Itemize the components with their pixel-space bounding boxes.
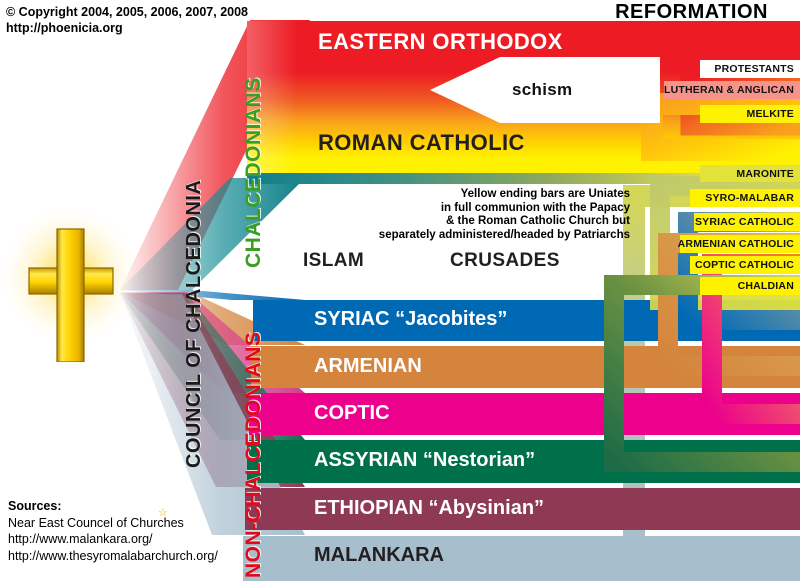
cross-icon bbox=[0, 196, 156, 362]
label-syriac: SYRIAC “Jacobites” bbox=[314, 308, 507, 331]
heading-crusades: CRUSADES bbox=[450, 250, 560, 272]
sources-heading: Sources: bbox=[8, 498, 218, 515]
endbar-melkite-label: MELKITE bbox=[747, 108, 794, 120]
copyright-line-2: http://phoenicia.org bbox=[6, 20, 248, 36]
label-armenian: ARMENIAN bbox=[314, 355, 422, 378]
endbar-chaldian: CHALDIAN bbox=[700, 277, 800, 295]
page-title-reformation: REFORMATION bbox=[615, 1, 768, 24]
label-assyrian: ASSYRIAN “Nestorian” bbox=[314, 449, 535, 472]
uniate-note-line4: separately administered/headed by Patria… bbox=[330, 229, 630, 243]
endbar-coptic-catholic: COPTIC CATHOLIC bbox=[690, 256, 800, 274]
endbar-lutheran-anglican: LUTHERAN & ANGLICAN bbox=[664, 81, 800, 99]
label-roman-catholic: ROMAN CATHOLIC bbox=[318, 130, 525, 156]
endbar-chaldian-label: CHALDIAN bbox=[738, 280, 794, 292]
uniate-note: Yellow ending bars are Uniates in full c… bbox=[330, 188, 630, 242]
label-coptic: COPTIC bbox=[314, 402, 390, 425]
copyright-line-1: © Copyright 2004, 2005, 2006, 2007, 2008 bbox=[6, 4, 248, 20]
endbar-maronite: MARONITE bbox=[700, 165, 800, 182]
label-ethiopian: ETHIOPIAN “Abysinian” bbox=[314, 497, 544, 520]
uniate-note-line3: & the Roman Catholic Church but bbox=[330, 215, 630, 229]
uniate-note-line2: in full communion with the Papacy bbox=[330, 202, 630, 216]
group-label-chalcedonians: CHALCEDONIANS bbox=[242, 77, 266, 268]
label-malankara: MALANKARA bbox=[314, 544, 444, 567]
label-eastern-orthodox: EASTERN ORTHODOX bbox=[318, 29, 563, 55]
sources-item-0: Near East Councel of Churches bbox=[8, 515, 218, 532]
sources-item-2: http://www.thesyromalabarchurch.org/ bbox=[8, 548, 218, 565]
endbar-syriac-catholic: SYRIAC CATHOLIC bbox=[694, 213, 800, 231]
endbar-syro-malabar-label: SYRO-MALABAR bbox=[705, 192, 794, 204]
endbar-armenian-catholic: ARMENIAN CATHOLIC bbox=[680, 235, 800, 253]
uniate-note-line1: Yellow ending bars are Uniates bbox=[330, 188, 630, 202]
heading-islam: ISLAM bbox=[303, 250, 364, 272]
endbar-protestants: PROTESTANTS bbox=[700, 60, 800, 78]
endbar-syro-malabar: SYRO-MALABAR bbox=[690, 189, 800, 207]
group-label-council-of-chalcedonia: COUNCIL OF CHALCEDONIA bbox=[183, 180, 206, 468]
diagram-canvas: EASTERN ORTHODOX ROMAN CATHOLIC schism S… bbox=[0, 0, 800, 581]
star-icon: ☆ bbox=[158, 503, 168, 521]
sources-block: Sources: Near East Councel of Churches h… bbox=[8, 498, 218, 564]
sources-item-1: http://www.malankara.org/ bbox=[8, 531, 218, 548]
copyright-notice: © Copyright 2004, 2005, 2006, 2007, 2008… bbox=[6, 4, 248, 36]
endbar-coptic-catholic-label: COPTIC CATHOLIC bbox=[695, 259, 794, 271]
endbar-lutheran-anglican-label: LUTHERAN & ANGLICAN bbox=[664, 84, 794, 96]
endbar-maronite-label: MARONITE bbox=[736, 168, 794, 180]
group-label-non-chalcedonians: NON-CHALCEDONIANS bbox=[242, 332, 266, 579]
endbar-protestants-label: PROTESTANTS bbox=[714, 63, 794, 75]
endbar-armenian-catholic-label: ARMENIAN CATHOLIC bbox=[678, 238, 794, 250]
endbar-melkite: MELKITE bbox=[700, 105, 800, 123]
schism-label: schism bbox=[512, 80, 572, 100]
endbar-syriac-catholic-label: SYRIAC CATHOLIC bbox=[695, 216, 794, 228]
